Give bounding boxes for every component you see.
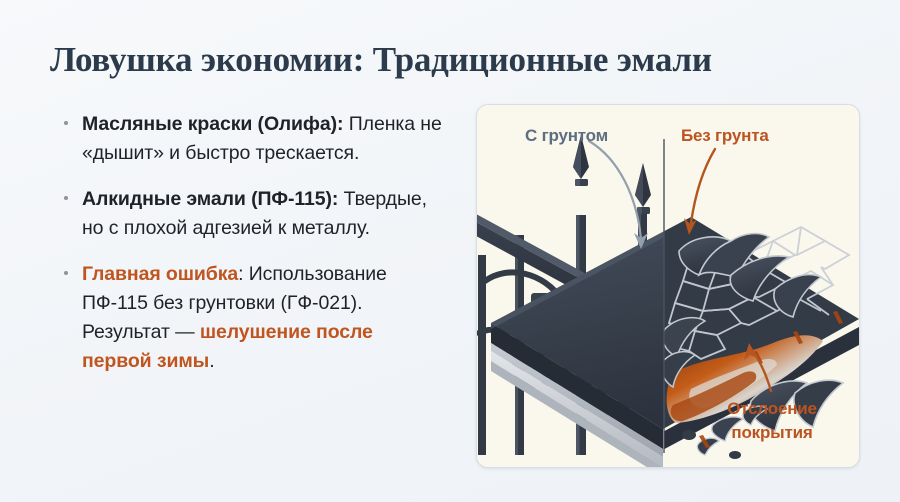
bullet-3-tail-end: .	[209, 350, 214, 372]
slide-root: Ловушка экономии: Традиционные эмали Мас…	[0, 0, 900, 502]
bullet-3-accent-lead: Главная ошибка	[82, 263, 238, 285]
bullet-2-separator: :	[332, 188, 344, 210]
bullet-1-strong: Масляные краски (Олифа)	[82, 113, 337, 135]
bullet-3-separator: :	[238, 263, 249, 285]
bullet-1-separator: :	[337, 113, 349, 135]
page-title: Ловушка экономии: Традиционные эмали	[50, 38, 870, 82]
label-without-primer: Без грунта	[681, 126, 769, 146]
illustration-panel: С грунтом Без грунта Отслоение покрытия	[476, 104, 860, 468]
label-coating-delamination-line2: покрытия	[707, 421, 837, 445]
list-item: Алкидные эмали (ПФ-115): Твердые, но с п…	[62, 185, 447, 243]
bullet-list: Масляные краски (Олифа): Пленка не «дыши…	[62, 110, 447, 376]
label-coating-delamination-line1: Отслоение	[707, 397, 837, 421]
bullet-2-strong: Алкидные эмали (ПФ-115)	[82, 188, 332, 210]
bullet-dot-icon	[64, 196, 68, 200]
bullet-dot-icon	[64, 121, 68, 125]
bullet-dot-icon	[64, 271, 68, 275]
list-item: Масляные краски (Олифа): Пленка не «дыши…	[62, 110, 447, 168]
label-coating-delamination: Отслоение покрытия	[707, 397, 837, 445]
label-with-primer: С грунтом	[525, 126, 608, 146]
list-item: Главная ошибка: Использование ПФ-115 без…	[62, 260, 447, 376]
